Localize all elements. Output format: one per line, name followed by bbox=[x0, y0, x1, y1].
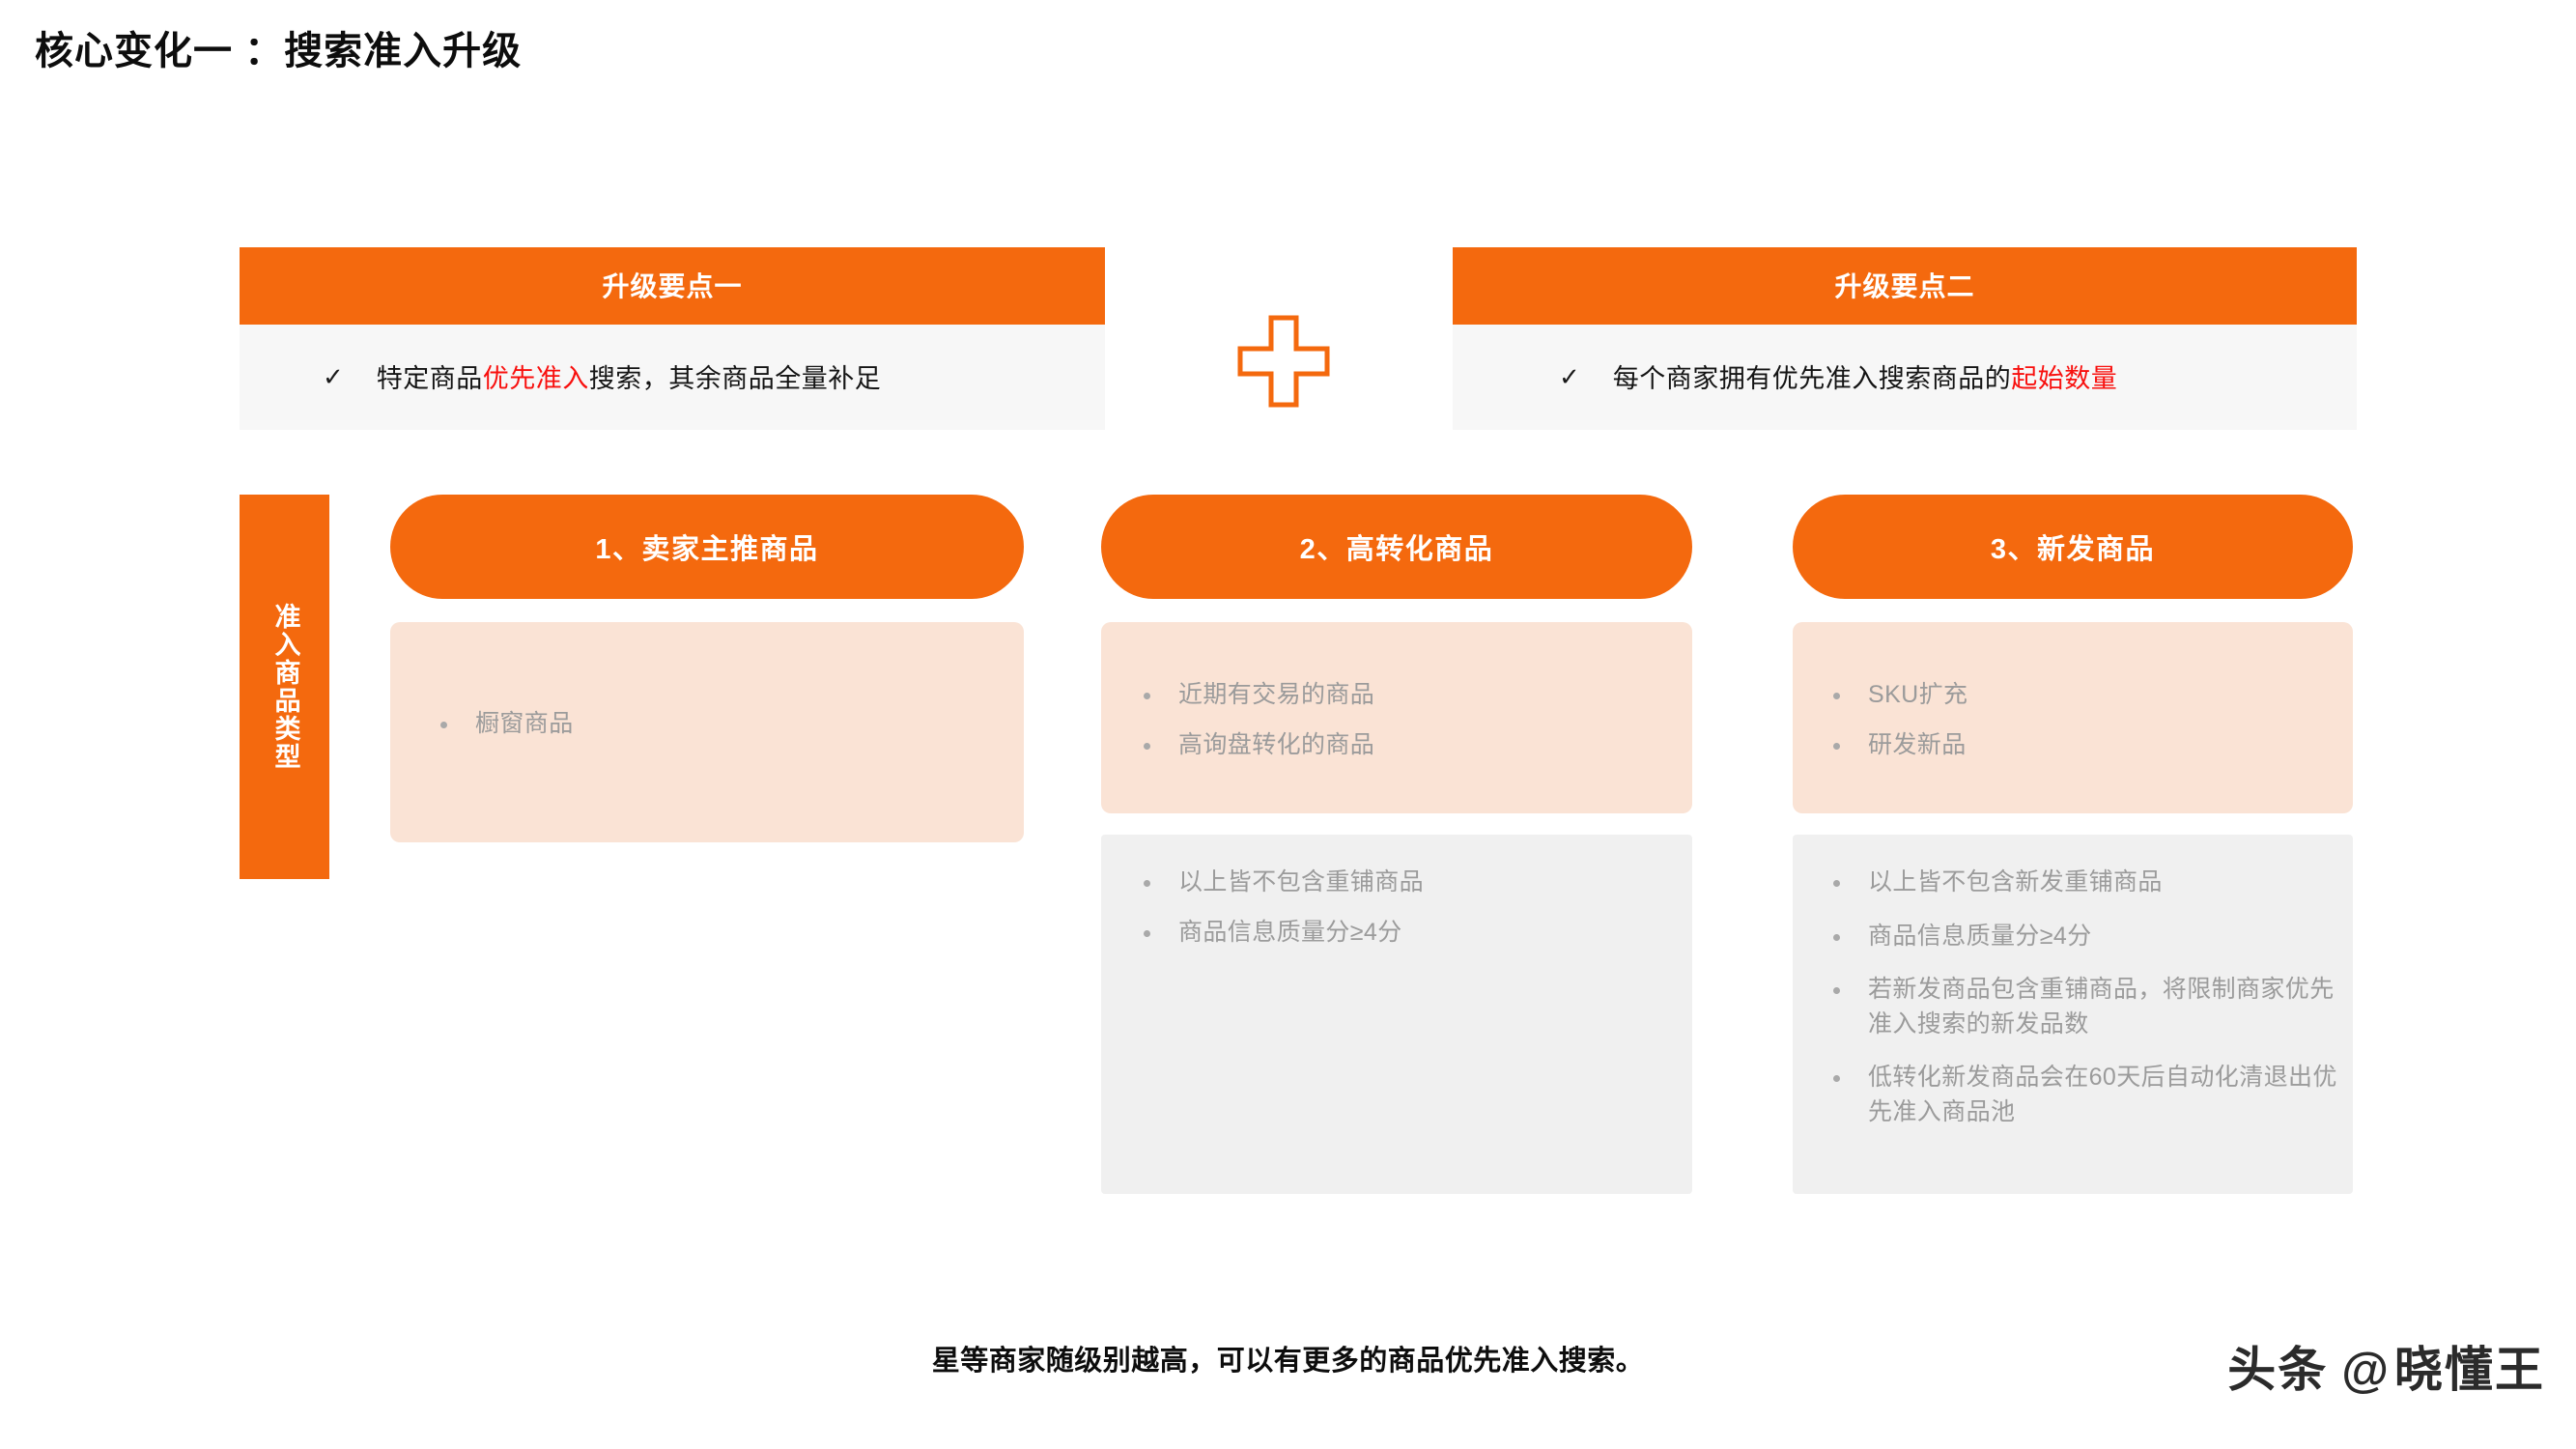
watermark-handle: 晓懂王 bbox=[2394, 1343, 2545, 1397]
watermark: 头条@晓懂王 bbox=[2227, 1331, 2545, 1401]
keypoint-panel-two: 升级要点二 ✓ 每个商家拥有优先准入搜索商品的起始数量 bbox=[1453, 247, 2357, 430]
category-pill-3[interactable]: 3、新发商品 bbox=[1793, 495, 2353, 599]
category-type-label-text: 准入商品类型 bbox=[266, 603, 304, 771]
keypoint-one-body: ✓ 特定商品优先准入搜索，其余商品全量补足 bbox=[240, 325, 1105, 430]
peach-bullet-list-3: SKU扩充 研发新品 bbox=[1826, 678, 2353, 762]
list-item: 研发新品 bbox=[1826, 728, 2353, 763]
keypoint-one-text: 特定商品优先准入搜索，其余商品全量补足 bbox=[377, 357, 882, 395]
category-type-label: 准入商品类型 bbox=[240, 495, 329, 879]
keypoint-two-text-highlight: 起始数量 bbox=[2011, 364, 2117, 393]
list-item: 商品信息质量分≥4分 bbox=[1826, 920, 2353, 954]
gray-bullet-list-3: 以上皆不包含新发重铺商品 商品信息质量分≥4分 若新发商品包含重铺商品，将限制商… bbox=[1826, 866, 2353, 1129]
keypoint-one-text-highlight: 优先准入 bbox=[483, 364, 589, 393]
category-pill-1[interactable]: 1、卖家主推商品 bbox=[390, 495, 1024, 599]
list-item: 商品信息质量分≥4分 bbox=[1136, 916, 1692, 951]
keypoint-two-body: ✓ 每个商家拥有优先准入搜索商品的起始数量 bbox=[1453, 325, 2357, 430]
list-item: 以上皆不包含新发重铺商品 bbox=[1826, 866, 2353, 900]
gray-bullet-list-2: 以上皆不包含重铺商品 商品信息质量分≥4分 bbox=[1136, 866, 1692, 950]
category-gray-box-2: 以上皆不包含重铺商品 商品信息质量分≥4分 bbox=[1101, 835, 1692, 1194]
peach-bullet-list-2: 近期有交易的商品 高询盘转化的商品 bbox=[1136, 678, 1692, 762]
category-pill-2[interactable]: 2、高转化商品 bbox=[1101, 495, 1692, 599]
footer-note: 星等商家随级别越高，可以有更多的商品优先准入搜索。 bbox=[0, 1338, 2576, 1378]
check-icon: ✓ bbox=[323, 364, 344, 389]
keypoint-two-text: 每个商家拥有优先准入搜索商品的起始数量 bbox=[1613, 357, 2118, 395]
category-peach-box-3: SKU扩充 研发新品 bbox=[1793, 622, 2353, 813]
keypoint-one-header: 升级要点一 bbox=[240, 247, 1105, 325]
watermark-at-symbol: @ bbox=[2341, 1343, 2391, 1397]
list-item: SKU扩充 bbox=[1826, 678, 2353, 713]
list-item: 低转化新发商品会在60天后自动化清退出优先准入商品池 bbox=[1826, 1061, 2353, 1129]
page-title: 核心变化一 ：搜索准入升级 bbox=[35, 19, 522, 75]
category-peach-box-1: 橱窗商品 bbox=[390, 622, 1024, 842]
category-column-1: 1、卖家主推商品 橱窗商品 bbox=[390, 495, 1024, 842]
list-item: 高询盘转化的商品 bbox=[1136, 728, 1692, 763]
category-gray-box-3: 以上皆不包含新发重铺商品 商品信息质量分≥4分 若新发商品包含重铺商品，将限制商… bbox=[1793, 835, 2353, 1194]
keypoint-one-text-after: 搜索，其余商品全量补足 bbox=[589, 364, 882, 393]
watermark-source: 头条 bbox=[2227, 1343, 2328, 1397]
category-column-3: 3、新发商品 SKU扩充 研发新品 以上皆不包含新发重铺商品 商品信息质量分≥4… bbox=[1793, 495, 2353, 1194]
plus-icon bbox=[1236, 314, 1331, 409]
list-item: 若新发商品包含重铺商品，将限制商家优先准入搜索的新发品数 bbox=[1826, 973, 2353, 1041]
keypoint-panel-one: 升级要点一 ✓ 特定商品优先准入搜索，其余商品全量补足 bbox=[240, 247, 1105, 430]
list-item: 橱窗商品 bbox=[433, 707, 1024, 742]
keypoint-two-text-before: 每个商家拥有优先准入搜索商品的 bbox=[1613, 364, 2012, 393]
keypoint-two-header: 升级要点二 bbox=[1453, 247, 2357, 325]
list-item: 以上皆不包含重铺商品 bbox=[1136, 866, 1692, 900]
keypoint-one-text-before: 特定商品 bbox=[377, 364, 483, 393]
category-peach-box-2: 近期有交易的商品 高询盘转化的商品 bbox=[1101, 622, 1692, 813]
peach-bullet-list-1: 橱窗商品 bbox=[433, 707, 1024, 742]
check-icon: ✓ bbox=[1559, 364, 1580, 389]
list-item: 近期有交易的商品 bbox=[1136, 678, 1692, 713]
category-column-2: 2、高转化商品 近期有交易的商品 高询盘转化的商品 以上皆不包含重铺商品 商品信… bbox=[1101, 495, 1692, 1194]
